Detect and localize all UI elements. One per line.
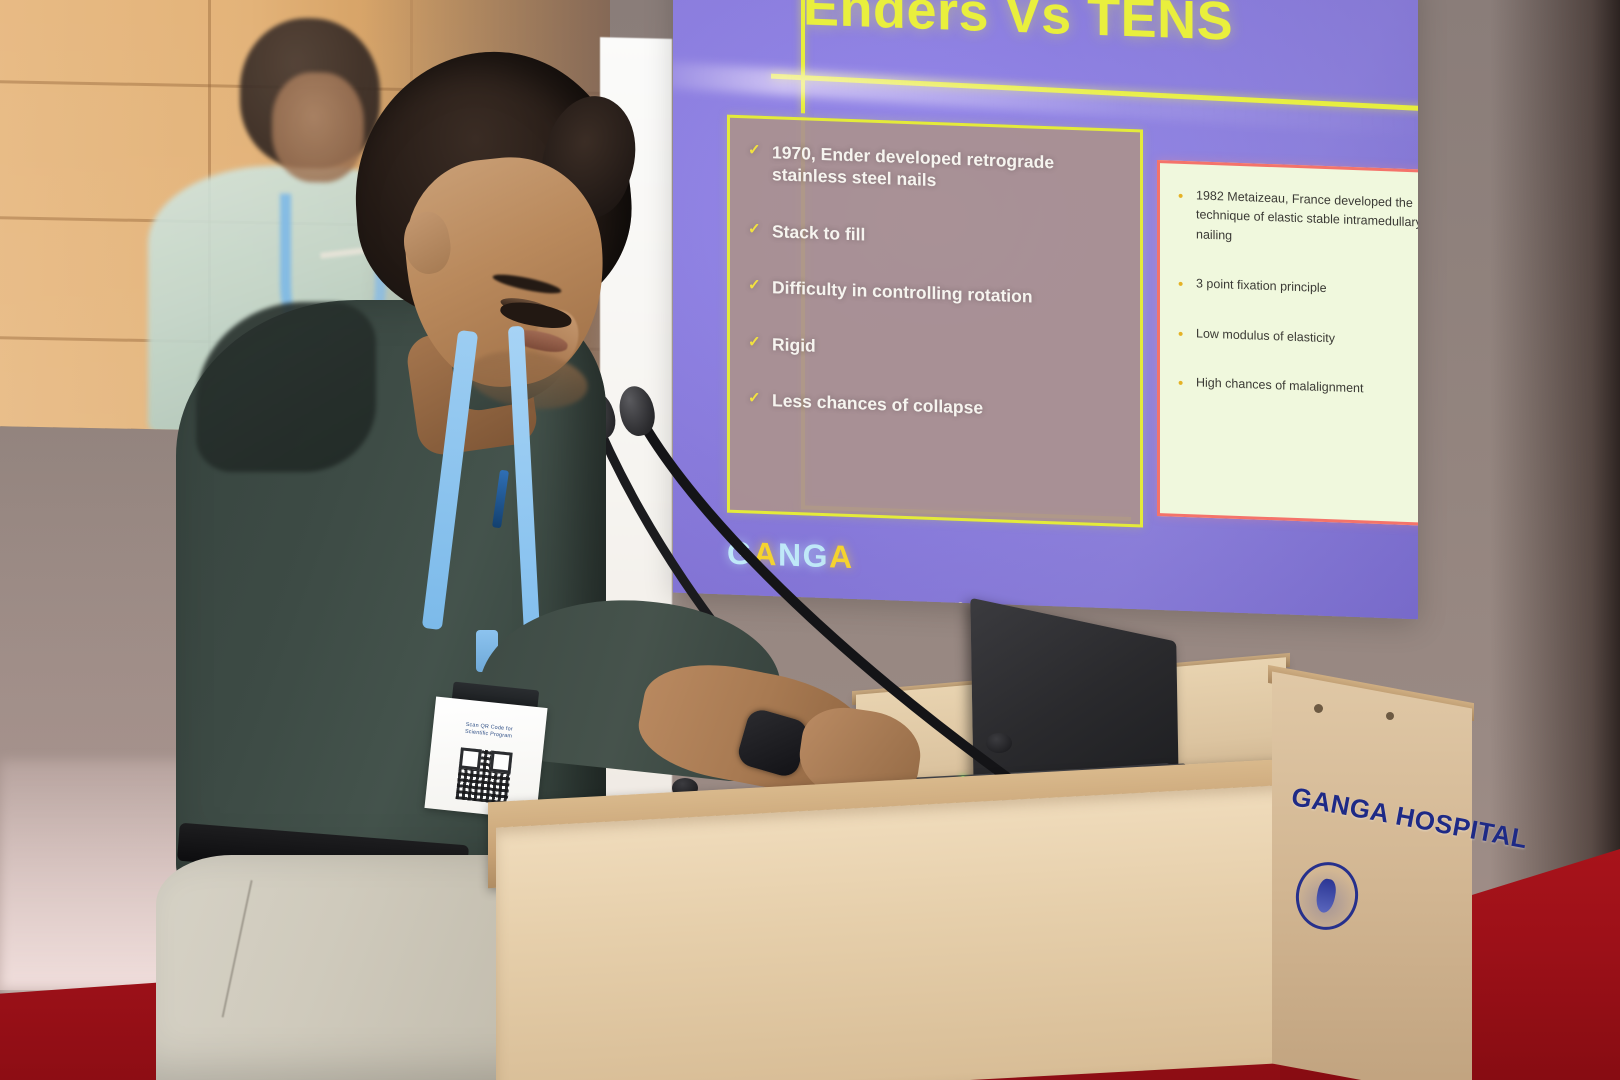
list-item: Rigid <box>748 332 1124 368</box>
conference-photo-scene: Enders Vs TENS 1970, Ender developed ret… <box>0 0 1620 1080</box>
enders-bullet-list: 1970, Ender developed retrograde stainle… <box>730 118 1140 425</box>
list-item: 1970, Ender developed retrograde stainle… <box>748 140 1124 198</box>
list-item: 1982 Metaizeau, France developed the tec… <box>1174 186 1418 254</box>
badge-text: Scan QR Code for Scientific Program <box>432 718 545 744</box>
slide-right-content-box: 1982 Metaizeau, France developed the tec… <box>1157 160 1418 527</box>
list-item: Difficulty in controlling rotation <box>748 276 1124 312</box>
relayed-speaker-face <box>272 71 364 183</box>
list-item: 3 point fixation principle <box>1174 274 1418 303</box>
podium-screw-2 <box>1386 712 1394 720</box>
list-item: Low modulus of elasticity <box>1174 323 1418 352</box>
qr-code <box>456 747 513 804</box>
list-item: High chances of malalignment <box>1174 372 1418 401</box>
podium-front-panel <box>496 784 1296 1080</box>
podium-screw-1 <box>1314 704 1323 713</box>
list-item: Stack to fill <box>748 219 1124 255</box>
tens-bullet-list: 1982 Metaizeau, France developed the tec… <box>1160 163 1418 402</box>
microphone-1-base <box>986 733 1012 753</box>
